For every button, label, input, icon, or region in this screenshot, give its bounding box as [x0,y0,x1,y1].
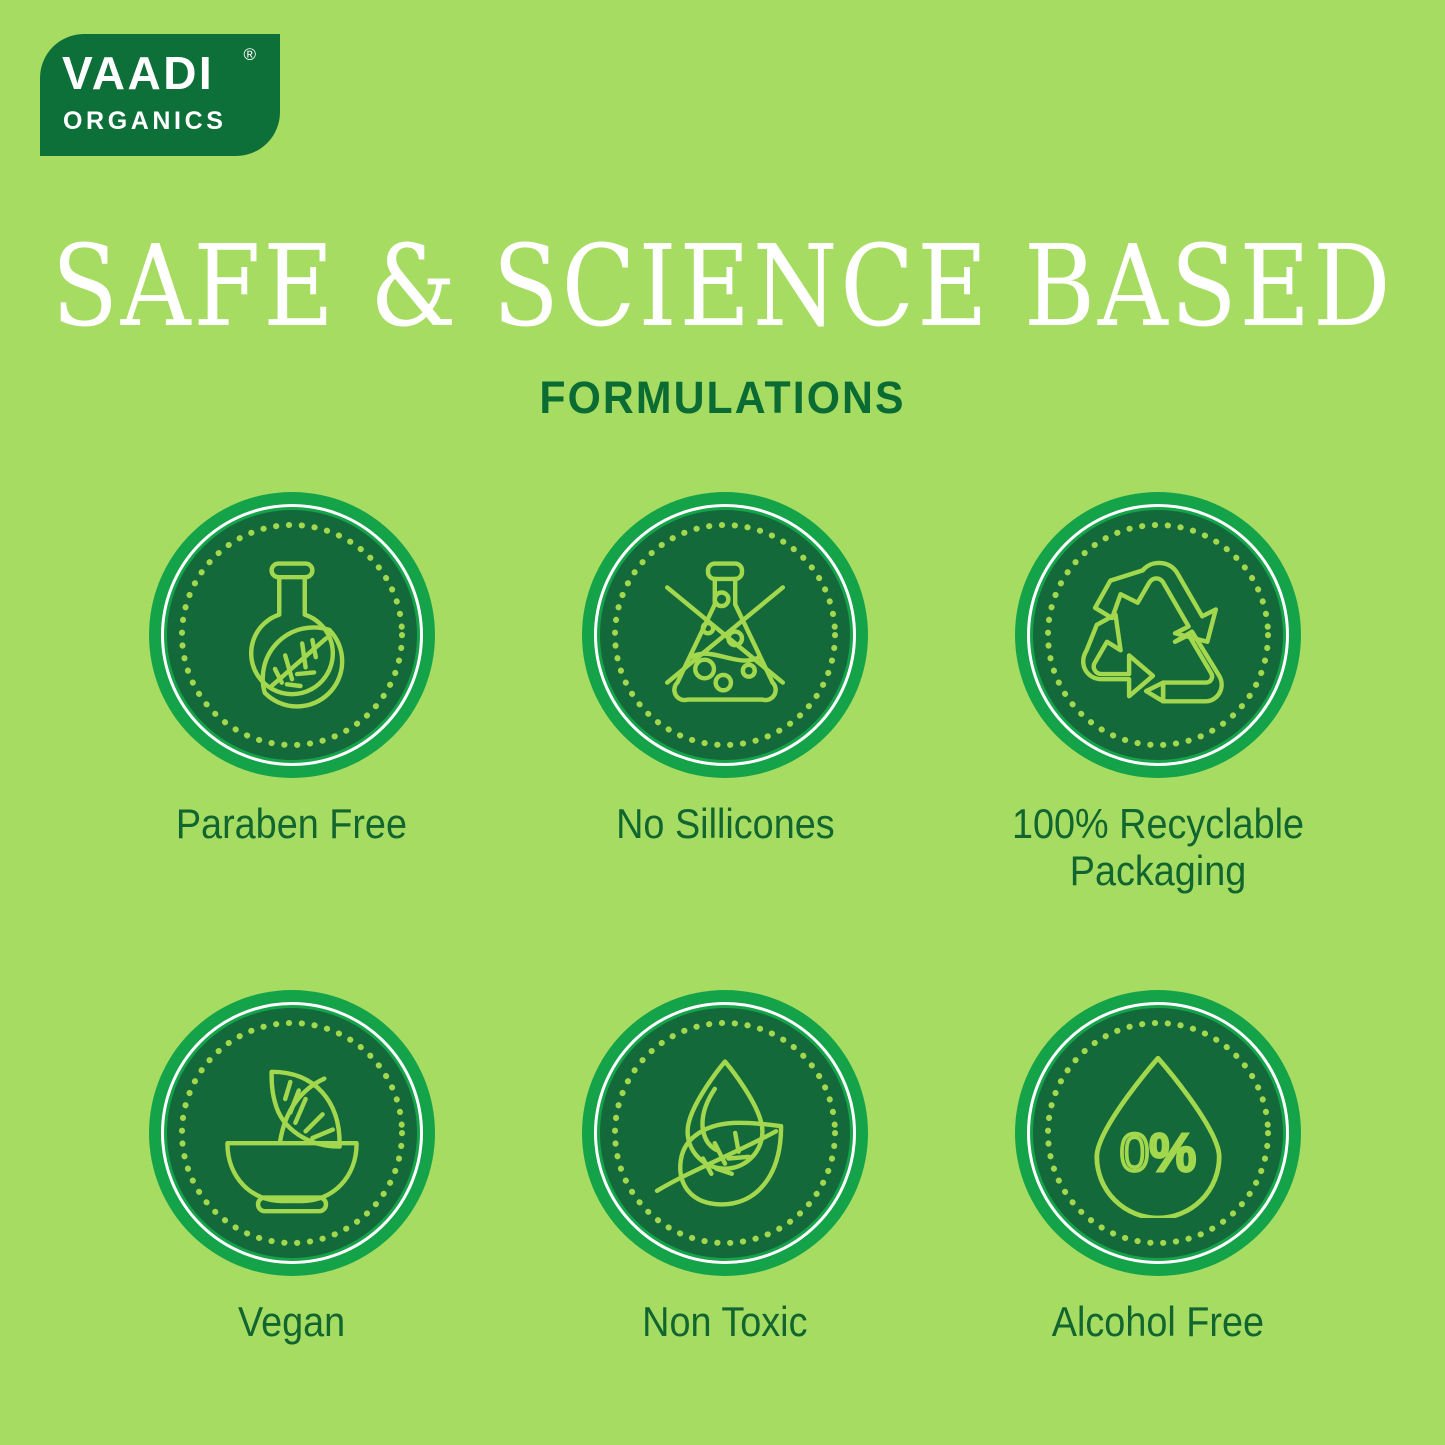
badge-disc [149,492,435,778]
badge-recyclable-packaging: 100% Recyclable Packaging [942,492,1375,894]
badge-vegan: Vegan [75,990,508,1345]
badge-label: No Sillicones [616,800,835,847]
recycle-icon [1073,550,1243,720]
badge-non-toxic: Non Toxic [508,990,941,1345]
flask-leaf-icon [207,550,377,720]
badge-paraben-free: Paraben Free [75,492,508,894]
feature-badge-grid: Paraben Free [75,492,1375,1345]
badge-disc [582,990,868,1276]
badge-disc [149,990,435,1276]
badge-disc [1015,492,1301,778]
registered-trademark-icon: ® [243,46,256,63]
badge-label: Paraben Free [176,800,407,847]
badge-disc: 0% [1015,990,1301,1276]
badge-label: Vegan [238,1298,345,1345]
page-title: SAFE & SCIENCE BASED [51,228,1395,346]
badge-disc [582,492,868,778]
badge-label: Alcohol Free [1052,1298,1264,1345]
badge-no-sillicones: No Sillicones [508,492,941,894]
droplet-leaf-icon [640,1048,810,1218]
badge-alcohol-free: 0% Alcohol Free [942,990,1375,1345]
brand-name-secondary: ORGANICS [40,96,280,134]
badge-label: Non Toxic [642,1298,807,1345]
droplet-value-text: 0% [1120,1123,1196,1182]
page-subtitle: FORMULATIONS [36,372,1409,424]
brand-logo: VAADI ® ORGANICS [40,34,280,156]
droplet-zero-percent-icon: 0% [1073,1048,1243,1218]
mortar-bowl-leaf-icon [207,1048,377,1218]
badge-label: 100% Recyclable Packaging [978,800,1338,894]
flask-crossed-out-icon [640,550,810,720]
